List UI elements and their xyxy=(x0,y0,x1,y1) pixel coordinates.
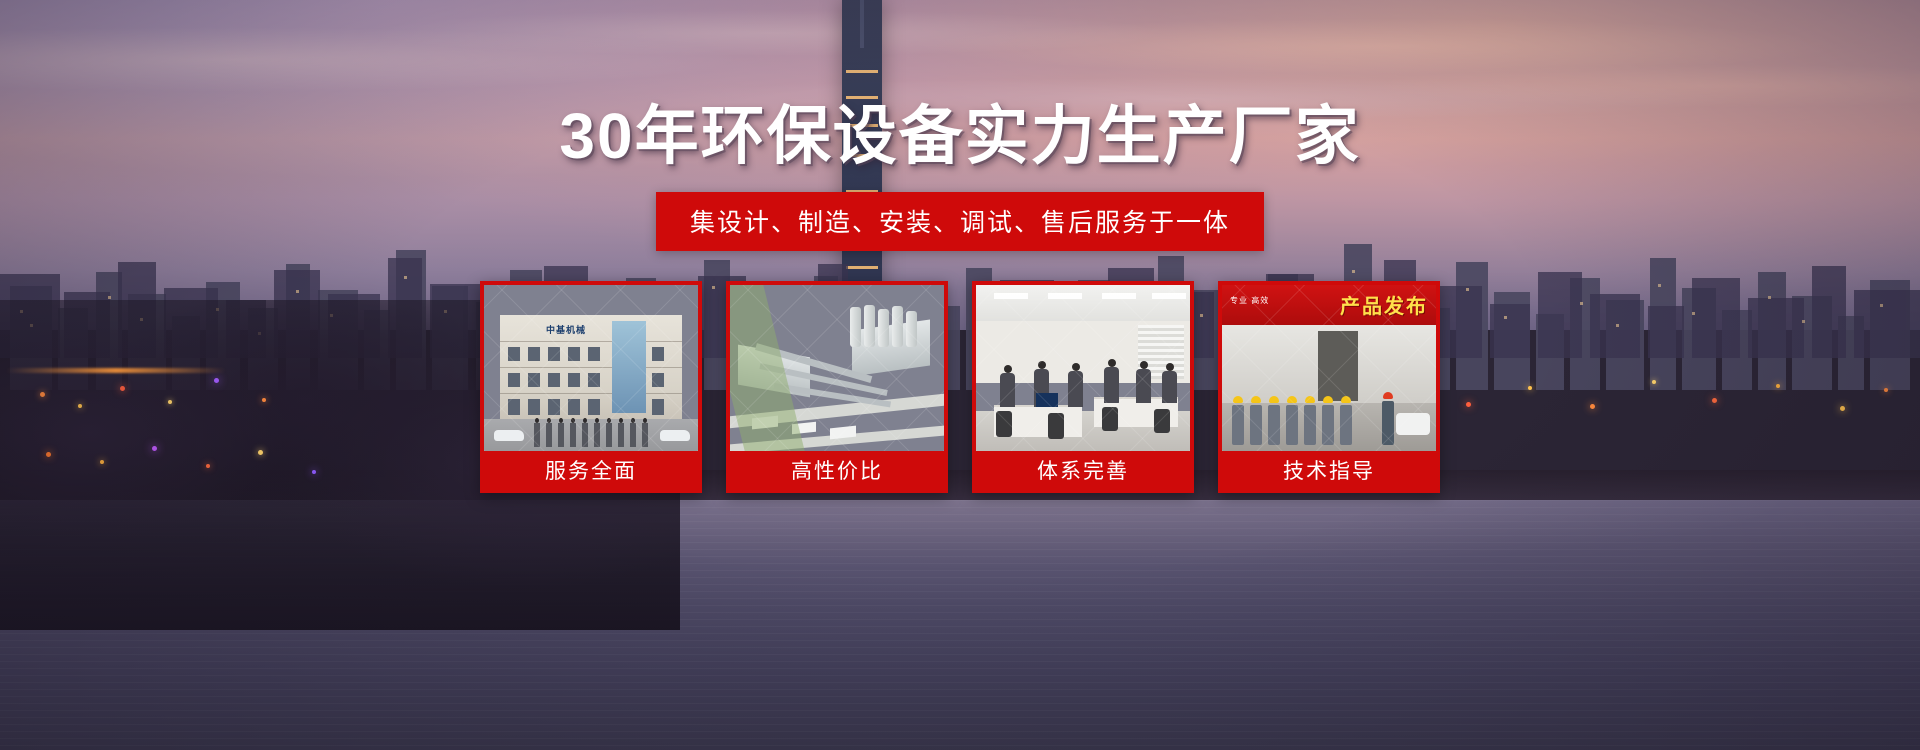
chair xyxy=(996,411,1012,437)
banner-content: 30年环保设备实力生产厂家 集设计、制造、安装、调试、售后服务于一体 中基机械 xyxy=(0,0,1920,750)
card-image-workshop-team: 专业 高效 产品发布 xyxy=(1222,285,1436,451)
feature-card[interactable]: 中基机械 xyxy=(480,281,702,493)
person xyxy=(1068,371,1083,407)
card-caption: 体系完善 xyxy=(976,451,1190,493)
chair xyxy=(1102,407,1118,431)
feature-card[interactable]: 高性价比 xyxy=(726,281,948,493)
card-image-plant-aerial xyxy=(730,285,944,451)
ceiling xyxy=(976,285,1190,321)
banner-small-text: 专业 高效 xyxy=(1230,295,1269,306)
person xyxy=(1162,371,1177,403)
building-sign-text: 中基机械 xyxy=(546,323,586,336)
chair xyxy=(1154,409,1170,433)
person xyxy=(1000,373,1015,407)
parked-car xyxy=(660,430,690,441)
laptop xyxy=(1036,393,1058,407)
banner-subtitle-badge: 集设计、制造、安装、调试、售后服务于一体 xyxy=(656,192,1264,251)
banner-small-text-line2: 高效 xyxy=(1251,296,1269,305)
card-caption: 技术指导 xyxy=(1222,451,1436,493)
feature-card[interactable]: 体系完善 xyxy=(972,281,1194,493)
workshop-red-banner: 专业 高效 产品发布 xyxy=(1222,285,1436,325)
card-caption: 高性价比 xyxy=(730,451,944,493)
feature-cards-row: 中基机械 xyxy=(480,281,1440,493)
person xyxy=(1104,367,1119,403)
person xyxy=(1136,369,1151,403)
feature-card[interactable]: 专业 高效 产品发布 xyxy=(1218,281,1440,493)
office-building-shape: 中基机械 xyxy=(500,315,682,421)
building-glass-facade xyxy=(612,321,646,413)
banner-headline: 30年环保设备实力生产厂家 xyxy=(0,104,1920,168)
card-image-headquarters: 中基机械 xyxy=(484,285,698,451)
parked-car xyxy=(494,430,524,441)
white-van xyxy=(1396,413,1430,435)
hero-banner: 30年环保设备实力生产厂家 集设计、制造、安装、调试、售后服务于一体 中基机械 xyxy=(0,0,1920,750)
card-caption: 服务全面 xyxy=(484,451,698,493)
banner-big-text: 产品发布 xyxy=(1340,290,1428,319)
card-image-office-interior xyxy=(976,285,1190,451)
banner-small-text-line1: 专业 xyxy=(1230,296,1248,305)
chair xyxy=(1048,413,1064,439)
workshop-door xyxy=(1318,331,1358,401)
